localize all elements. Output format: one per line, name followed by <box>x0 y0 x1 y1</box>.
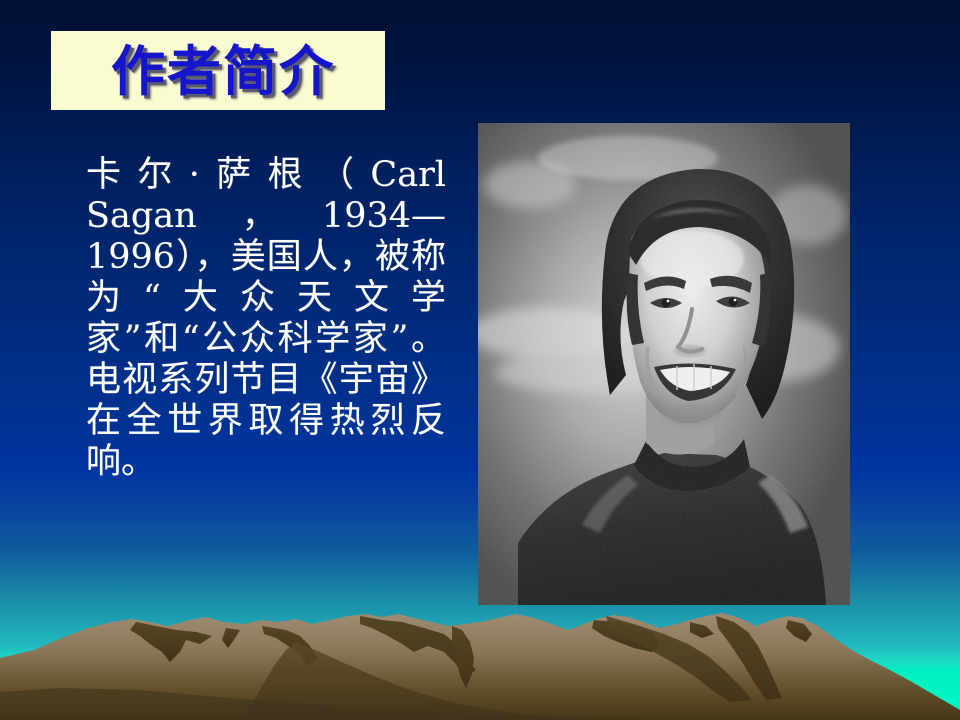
body-paragraph: 卡尔·萨根（Carl Sagan，1934—1996），美国人，被称为“大众天文… <box>86 155 446 483</box>
mountain-silhouette <box>0 600 960 720</box>
slide-canvas: 作者简介 卡尔·萨根（Carl Sagan，1934—1996），美国人，被称为… <box>0 0 960 720</box>
title-banner: 作者简介 <box>51 31 385 110</box>
page-title: 作者简介 <box>101 44 335 98</box>
portrait-image <box>478 123 850 605</box>
body-text-block: 卡尔·萨根（Carl Sagan，1934—1996），美国人，被称为“大众天文… <box>86 155 446 483</box>
portrait-photo <box>478 123 850 605</box>
